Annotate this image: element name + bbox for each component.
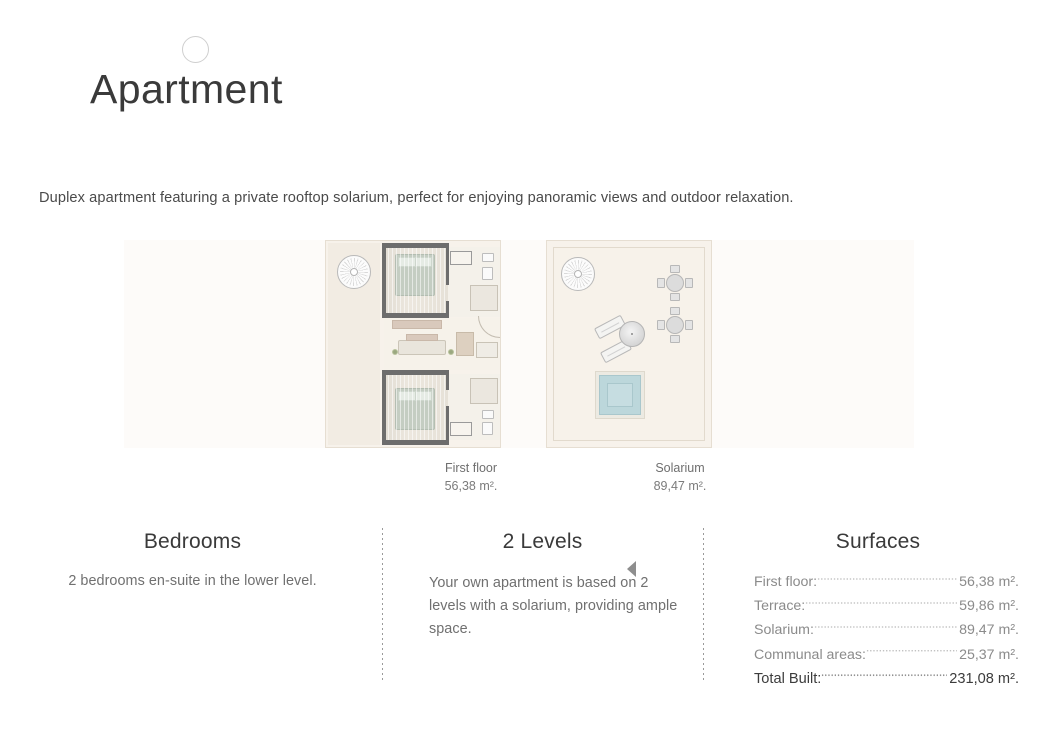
surface-value: 231,08 m².: [949, 667, 1019, 692]
wall: [382, 370, 448, 375]
coffee-table: [406, 334, 438, 341]
plunge-pool: [599, 375, 641, 415]
sofa: [398, 340, 446, 355]
floorplan-gallery: [124, 240, 914, 448]
solarium-caption-area: 89,47 m².: [590, 477, 770, 495]
en-suite-bathroom-upper: [448, 247, 500, 317]
surfaces-heading: Surfaces: [720, 529, 1036, 554]
first-floor-caption-label: First floor: [381, 459, 561, 477]
feature-column-levels: 2 Levels Your own apartment is based on …: [400, 525, 685, 640]
bedrooms-heading: Bedrooms: [20, 529, 365, 554]
feature-column-bedrooms: Bedrooms 2 bedrooms en-suite in the lowe…: [20, 525, 365, 593]
circle-outline-icon: [182, 36, 209, 63]
window-upper: [450, 251, 472, 265]
plant: [392, 349, 398, 355]
surface-row: Total Built:231,08 m².: [754, 667, 1019, 692]
surface-label: First floor:: [754, 570, 817, 594]
wall: [382, 440, 448, 445]
chair: [685, 278, 693, 288]
dining-table-set-upper: [657, 265, 693, 301]
wall: [446, 370, 449, 390]
surface-leader-dots: [805, 596, 957, 610]
spiral-staircase-icon: [561, 257, 595, 291]
bed-upper: [395, 254, 435, 296]
entrance-door-swing-icon: [478, 316, 500, 338]
surface-label: Terrace:: [754, 594, 805, 618]
wall: [382, 243, 448, 248]
chair: [685, 320, 693, 330]
levels-body: Your own apartment is based on 2 levels …: [400, 572, 685, 640]
surface-label: Solarium:: [754, 618, 814, 642]
wall: [446, 406, 449, 445]
levels-heading: 2 Levels: [400, 529, 685, 554]
chair: [670, 335, 680, 343]
pillows-upper: [398, 257, 432, 267]
kitchen-counter: [476, 342, 498, 358]
first-floor-plan[interactable]: [325, 240, 501, 448]
bedrooms-body: 2 bedrooms en-suite in the lower level.: [20, 570, 365, 593]
surface-row: Terrace:59,86 m².: [754, 594, 1019, 618]
surface-leader-dots: [821, 668, 947, 683]
chair: [670, 307, 680, 315]
surface-value: 89,47 m².: [959, 618, 1019, 642]
surface-row: Communal areas:25,37 m².: [754, 643, 1019, 667]
toilet-upper: [482, 267, 493, 280]
table-top: [666, 274, 684, 292]
chair: [670, 265, 680, 273]
dining-table-set-lower: [657, 307, 693, 343]
first-floor-plan-drawing: [325, 240, 501, 448]
washbasin-upper: [482, 253, 494, 262]
spiral-staircase-icon: [337, 255, 371, 289]
surface-label: Total Built:: [754, 667, 821, 692]
surface-leader-dots: [814, 620, 957, 634]
wall: [446, 301, 449, 318]
solarium-plan[interactable]: [546, 240, 712, 448]
bed-lower: [395, 388, 435, 430]
feature-columns: Bedrooms 2 bedrooms en-suite in the lowe…: [0, 525, 1056, 685]
chair: [657, 278, 665, 288]
wall: [382, 243, 386, 318]
surface-value: 59,86 m².: [959, 594, 1019, 618]
column-divider: [382, 528, 383, 681]
surfaces-list: First floor:56,38 m².Terrace:59,86 m².So…: [720, 570, 1036, 691]
en-suite-bathroom-lower: [448, 374, 500, 440]
surface-row: Solarium:89,47 m².: [754, 618, 1019, 642]
washbasin-lower: [482, 410, 494, 419]
chair: [670, 293, 680, 301]
surface-value: 56,38 m².: [959, 570, 1019, 594]
first-floor-caption-area: 56,38 m².: [381, 477, 561, 495]
solarium-caption-label: Solarium: [590, 459, 770, 477]
bedroom-upper: [384, 247, 448, 317]
surface-leader-dots: [817, 572, 957, 586]
surface-leader-dots: [866, 644, 957, 658]
chair: [657, 320, 665, 330]
wall: [446, 243, 449, 285]
wall: [382, 370, 386, 445]
kitchen: [456, 332, 474, 356]
pillows-lower: [398, 391, 432, 401]
living-area: [384, 318, 500, 370]
surface-label: Communal areas:: [754, 643, 866, 667]
toilet-lower: [482, 422, 493, 435]
surface-value: 25,37 m².: [959, 643, 1019, 667]
bedroom-lower: [384, 374, 448, 440]
solarium-caption: Solarium 89,47 m².: [590, 459, 770, 495]
console-table: [392, 320, 442, 329]
plant: [448, 349, 454, 355]
feature-column-surfaces: Surfaces First floor:56,38 m².Terrace:59…: [720, 525, 1036, 692]
table-top: [666, 316, 684, 334]
page-header: Apartment: [0, 0, 1056, 150]
surface-row: First floor:56,38 m².: [754, 570, 1019, 594]
page-title: Apartment: [90, 66, 283, 113]
parasol: [619, 321, 645, 347]
intro-description: Duplex apartment featuring a private roo…: [39, 190, 999, 206]
window-lower: [450, 422, 472, 436]
shower-upper: [470, 285, 498, 311]
column-divider: [703, 528, 704, 681]
shower-lower: [470, 378, 498, 404]
solarium-plan-drawing: [546, 240, 712, 448]
first-floor-caption: First floor 56,38 m².: [381, 459, 561, 495]
